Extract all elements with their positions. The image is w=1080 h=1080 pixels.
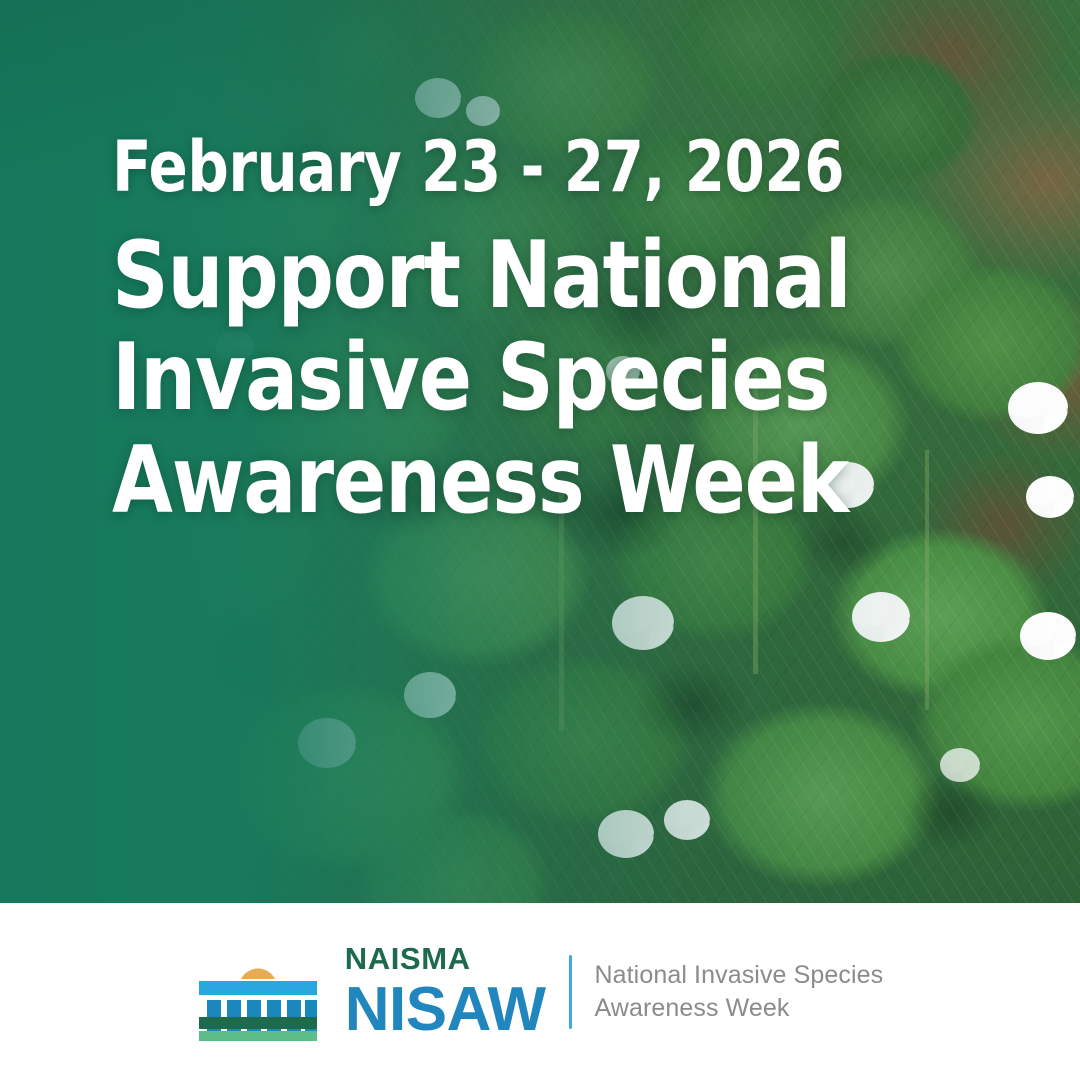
headline-line-2: Invasive Species	[112, 326, 958, 428]
naisma-wordmark: NAISMA	[345, 943, 546, 974]
logo-divider	[569, 955, 572, 1029]
poster-canvas: February 23 - 27, 2026 Support National …	[0, 0, 1080, 1080]
headline-line-3: Awareness Week	[112, 429, 958, 531]
tagline-line-1: National Invasive Species	[594, 959, 883, 992]
logo-tagline: National Invasive Species Awareness Week	[594, 959, 883, 1024]
page-title: Support National Invasive Species Awaren…	[112, 224, 958, 531]
capitol-building-icon	[197, 942, 319, 1041]
headline-block: February 23 - 27, 2026 Support National …	[112, 132, 1012, 531]
naisma-nisaw-lockup[interactable]: NAISMA NISAW National Invasive Species A…	[197, 942, 884, 1041]
wordmark-group: NAISMA NISAW	[345, 943, 546, 1041]
footer-logo-band: NAISMA NISAW National Invasive Species A…	[0, 903, 1080, 1080]
tagline-line-2: Awareness Week	[594, 992, 883, 1025]
headline-line-1: Support National	[112, 224, 958, 326]
event-dates: February 23 - 27, 2026	[112, 132, 940, 202]
nisaw-wordmark: NISAW	[345, 979, 546, 1041]
hero-photo: February 23 - 27, 2026 Support National …	[0, 0, 1080, 903]
